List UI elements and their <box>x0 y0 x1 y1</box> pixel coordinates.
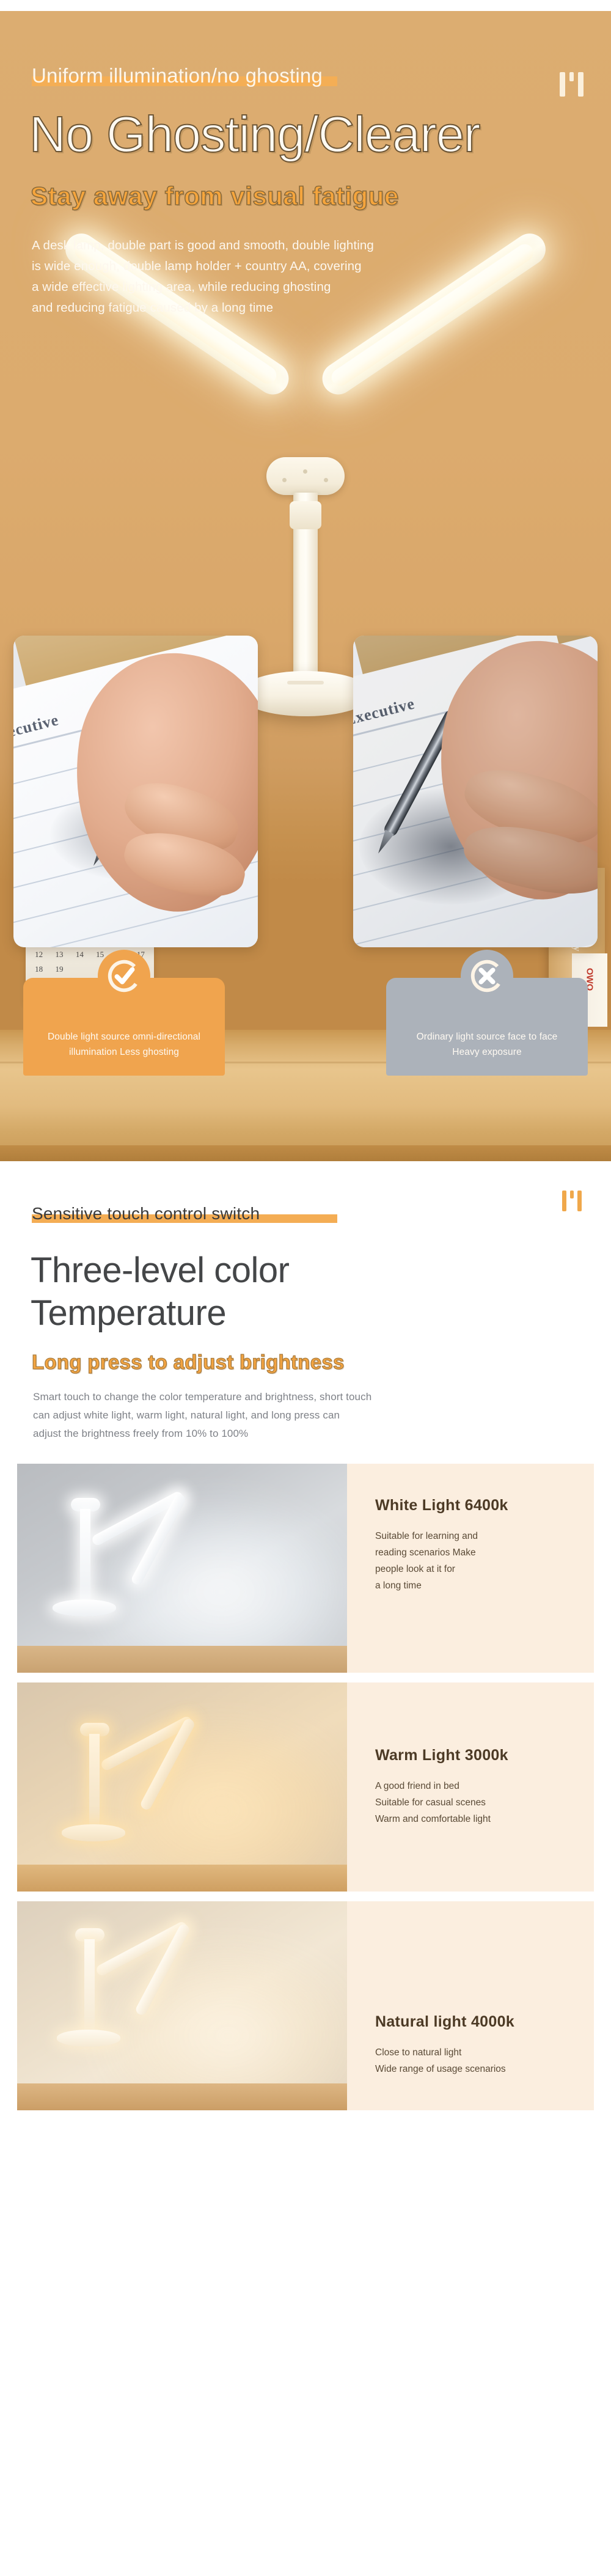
desc-line: Warm and comfortable light <box>375 1811 594 1827</box>
desc-line: A good friend in bed <box>375 1778 594 1794</box>
card-photo <box>17 1682 347 1892</box>
card-photo <box>17 1901 347 2110</box>
section1-body: A desk lamp, double part is good and smo… <box>32 235 374 318</box>
desc-line: reading scenarios Make <box>375 1544 594 1561</box>
card-description: A good friend in bed Suitable for casual… <box>375 1778 594 1827</box>
notebook-header-text: Executive <box>353 694 417 729</box>
product-detail-page: Uniform illumination/no ghosting No Ghos… <box>0 0 611 2135</box>
desc-line: Suitable for casual scenes <box>375 1794 594 1811</box>
card-info: White Light 6400k Suitable for learning … <box>347 1464 594 1673</box>
section1-subheading: Stay away from visual fatigue <box>31 183 399 209</box>
card-white-light: White Light 6400k Suitable for learning … <box>17 1464 594 1673</box>
caption-line: Heavy exposure <box>417 1044 558 1060</box>
desc-line: Close to natural light <box>375 2044 594 2061</box>
desc-line: a long time <box>375 1577 594 1594</box>
eyebrow-label: Uniform illumination/no ghosting <box>32 64 323 87</box>
check-circle-icon <box>98 950 150 1002</box>
section2-heading: Three-level color Temperature <box>31 1249 611 1335</box>
section2-body: Smart touch to change the color temperat… <box>33 1388 611 1443</box>
lamp-base <box>241 671 370 716</box>
body-line: is wide enough, double lamp holder + cou… <box>32 256 374 277</box>
color-temperature-cards: White Light 6400k Suitable for learning … <box>0 1464 611 2135</box>
card-title: White Light 6400k <box>375 1497 594 1514</box>
desk-edge <box>0 1145 611 1161</box>
caption-line: illumination Less ghosting <box>48 1044 200 1060</box>
comparison-photo-good: Executive <box>13 636 258 947</box>
comparison-photo-bad: Executive <box>353 636 598 947</box>
body-line: can adjust white light, warm light, natu… <box>33 1406 611 1425</box>
section2-subheading: Long press to adjust brightness <box>32 1352 611 1372</box>
body-line: adjust the brightness freely from 10% to… <box>33 1425 611 1443</box>
desc-line: Suitable for learning and <box>375 1528 594 1544</box>
caption-banner-good: Double light source omni-directional ill… <box>23 978 225 1076</box>
section1-eyebrow: Uniform illumination/no ghosting <box>32 64 323 87</box>
card-info: Warm Light 3000k A good friend in bed Su… <box>347 1682 594 1892</box>
card-title: Natural light 4000k <box>375 2013 594 2031</box>
quote-mark-icon <box>560 72 584 97</box>
quote-mark-icon <box>562 1191 582 1211</box>
card-description: Suitable for learning and reading scenar… <box>375 1528 594 1594</box>
cross-circle-icon <box>461 950 513 1002</box>
body-line: a wide effective lighting area, while re… <box>32 277 374 298</box>
lamp-neck <box>293 493 318 676</box>
section2-eyebrow: Sensitive touch control switch <box>32 1204 260 1224</box>
card-title: Warm Light 3000k <box>375 1747 594 1764</box>
section1-heading: No Ghosting/Clearer <box>29 109 480 160</box>
caption-line: Double light source omni-directional <box>48 1029 200 1044</box>
caption-banner-bad: Ordinary light source face to face Heavy… <box>386 978 588 1076</box>
body-line: and reducing fatigue caused by a long ti… <box>32 298 374 318</box>
card-warm-light: Warm Light 3000k A good friend in bed Su… <box>17 1682 594 1892</box>
section-no-ghosting: Uniform illumination/no ghosting No Ghos… <box>0 0 611 1161</box>
heading-line: Temperature <box>31 1292 611 1335</box>
card-info: Natural light 4000k Close to natural lig… <box>347 1901 594 2110</box>
desc-line: Wide range of usage scenarios <box>375 2061 594 2077</box>
section-color-temperature: Sensitive touch control switch Three-lev… <box>0 1161 611 2135</box>
body-line: Smart touch to change the color temperat… <box>33 1388 611 1406</box>
card-photo <box>17 1464 347 1673</box>
top-white-strip <box>0 0 611 11</box>
lamp-hinge <box>266 457 345 495</box>
card-natural-light: Natural light 4000k Close to natural lig… <box>17 1901 594 2110</box>
desc-line: people look at it for <box>375 1561 594 1577</box>
card-description: Close to natural light Wide range of usa… <box>375 2044 594 2077</box>
heading-line: Three-level color <box>31 1249 611 1292</box>
eyebrow-label: Sensitive touch control switch <box>32 1204 260 1224</box>
body-line: A desk lamp, double part is good and smo… <box>32 235 374 256</box>
caption-line: Ordinary light source face to face <box>417 1029 558 1044</box>
